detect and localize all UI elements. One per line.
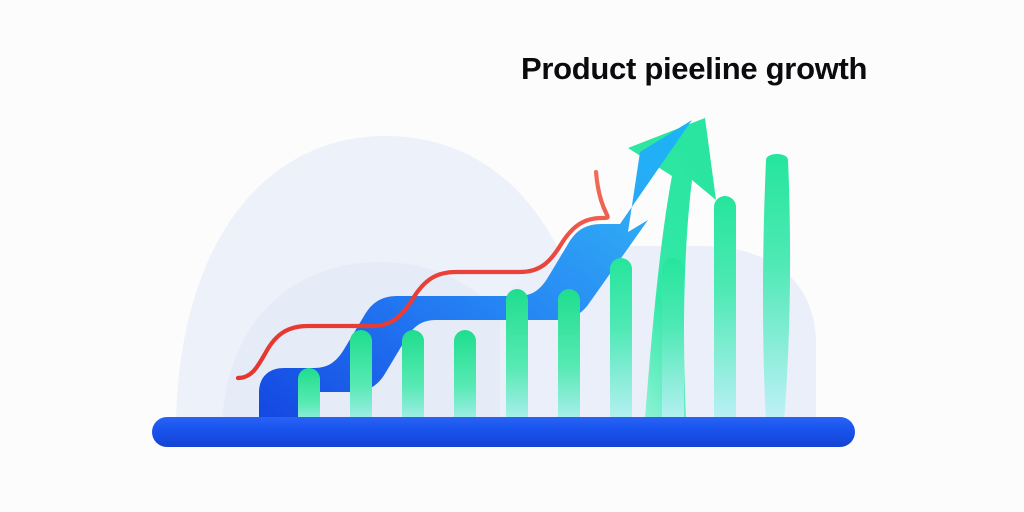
bar-7	[610, 258, 632, 432]
page-title: Product pieeline growth	[521, 50, 867, 87]
chart-baseline	[152, 417, 855, 447]
bar-8	[662, 258, 684, 432]
bar-3	[402, 330, 424, 432]
illustration-canvas: Product pieeline growth	[0, 0, 1024, 512]
bar-4	[454, 330, 476, 432]
growth-chart-illustration	[0, 0, 1024, 512]
bar-5	[506, 289, 528, 432]
bar-9	[714, 196, 736, 432]
bar-10	[763, 154, 790, 428]
bar-6	[558, 289, 580, 432]
bar-2	[350, 330, 372, 432]
